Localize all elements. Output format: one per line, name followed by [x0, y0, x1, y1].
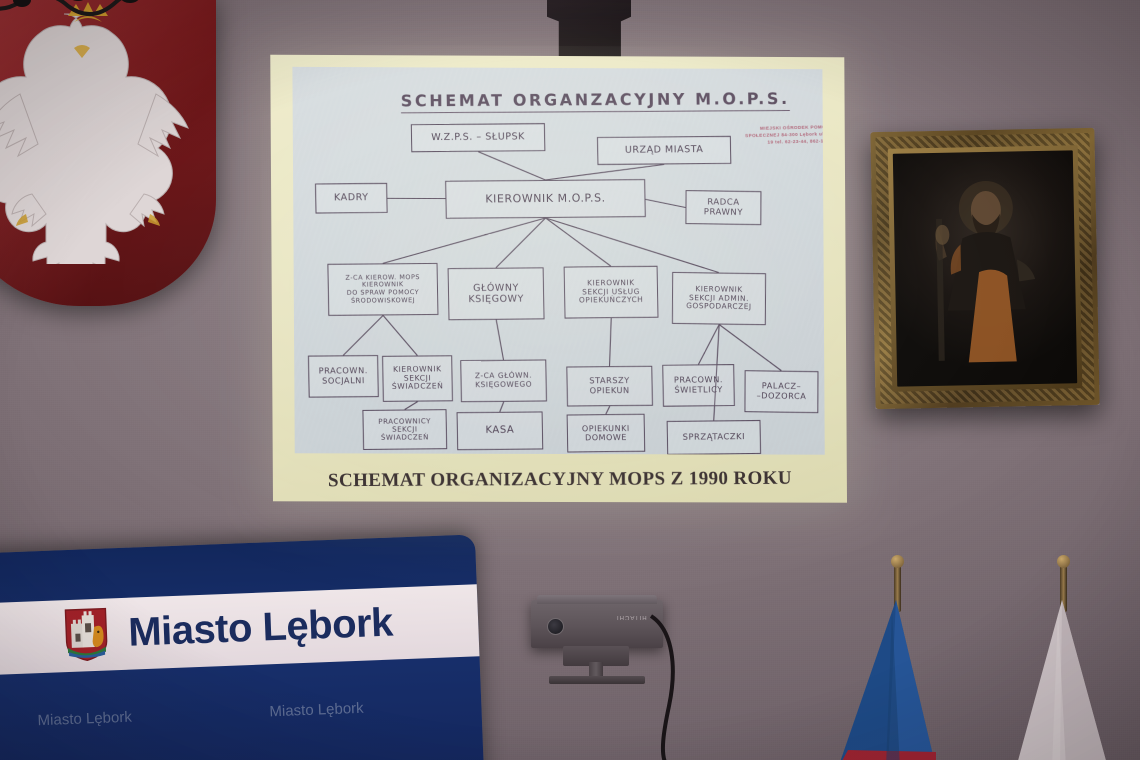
flag-blue [852, 566, 952, 760]
org-node-uslugi: KIEROWNIK SEKCJI USŁUG OPIEKUŃCZYCH [564, 266, 659, 319]
slide-caption: SCHEMAT ORGANIZACYJNY MOPS Z 1990 ROKU [273, 461, 847, 500]
org-node-glowny: GŁÓWNY KSIĘGOWY [448, 267, 545, 320]
org-node-admin: KIEROWNIK SEKCJI ADMIN. GOSPODARCZEJ [672, 272, 766, 325]
chandelier-icon [0, 0, 182, 46]
room-scene: HITACHI k Miasto Lębork Mias [0, 0, 1140, 760]
flag-white [1038, 566, 1138, 760]
slide-paper-area: SCHEMAT ORGANZACYJNY M.O.P.S. MIEJSKI OŚ… [292, 67, 824, 455]
projected-slide: SCHEMAT ORGANZACYJNY M.O.P.S. MIEJSKI OŚ… [270, 55, 847, 503]
org-chart-nodes: W.Z.P.S. – SŁUPSKURZĄD MIASTAKADRYKIEROW… [292, 67, 824, 455]
banner-title: Miasto Lębork [127, 596, 394, 660]
org-node-palacz: PALACZ– –DOZORCA [744, 370, 818, 413]
org-node-starszy: STARSZY OPIEKUN [566, 366, 653, 407]
projector-body: HITACHI [531, 600, 663, 648]
org-node-zca: Z-CA KIEROW. MOPS KIEROWNIK DO SPRAW POM… [327, 263, 438, 316]
painting-canvas [893, 150, 1077, 386]
ceiling-projector: HITACHI [519, 592, 679, 702]
org-node-radca: RADCA PRAWNY [685, 190, 761, 225]
org-node-pracsw: PRACOWNICY SEKCJI ŚWIADCZEŃ [362, 409, 447, 450]
banner-subtitle-left: Miasto Lębork [37, 708, 132, 732]
polish-coat-of-arms [0, 0, 216, 306]
flag-finial-icon [1057, 555, 1070, 568]
framed-portrait [870, 128, 1099, 409]
lebork-coat-of-arms-icon [63, 607, 109, 663]
org-node-kierownik: KIEROWNIK M.O.P.S. [445, 179, 646, 219]
org-node-kasa: KASA [457, 411, 544, 450]
projector-lens-icon [547, 618, 564, 635]
org-node-kiersw: KIEROWNIK SEKCJI ŚWIADCZEŃ [382, 355, 453, 402]
flag-cloth [830, 600, 950, 760]
org-node-kadry: KADRY [315, 183, 388, 214]
org-node-wzps: W.Z.P.S. – SŁUPSK [411, 123, 546, 152]
projector-cable [647, 612, 693, 760]
miasto-lebork-banner: k Miasto Lębork Miasto Lębork Miasto Lęb… [0, 534, 485, 760]
org-node-opiekunki: OPIEKUNKI DOMOWE [567, 414, 646, 453]
projector-top-plate [537, 595, 657, 604]
org-node-zcaglown: Z-CA GŁÓWN. KSIĘGOWEGO [460, 359, 547, 402]
saint-figure-icon [893, 150, 1077, 386]
flag-finial-icon [891, 555, 904, 568]
org-node-pracsoc: PRACOWN. SOCJALNI [308, 355, 379, 398]
projector-wall-plate [549, 676, 645, 684]
org-node-swietlicy: PRACOWN. ŚWIETLICY [662, 364, 735, 407]
flag-cloth [1004, 600, 1134, 760]
org-node-sprzat: SPRZĄTACZKI [667, 420, 761, 455]
org-node-urzad: URZĄD MIASTA [597, 136, 731, 165]
banner-subtitle-right: Miasto Lębork [269, 699, 364, 723]
projector-brand-label: HITACHI [616, 614, 647, 620]
